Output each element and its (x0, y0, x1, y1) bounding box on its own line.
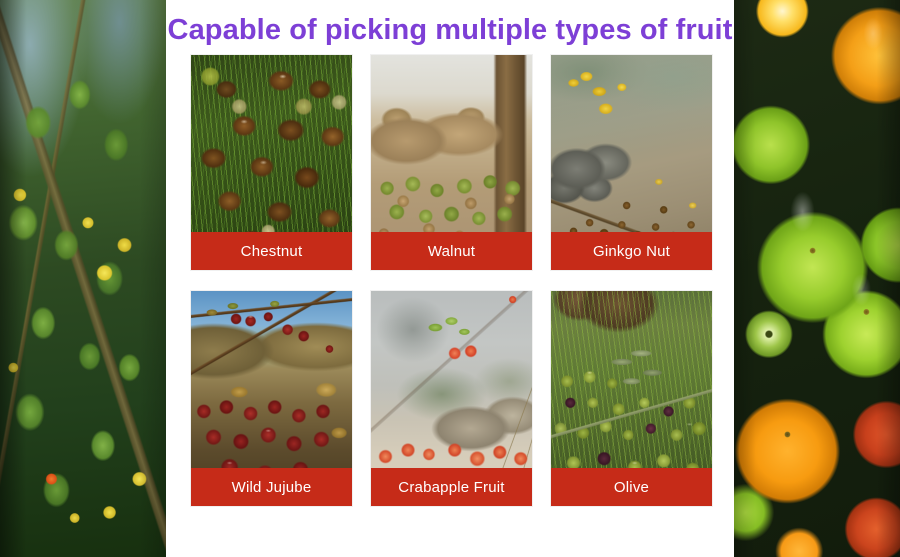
fruit-card-grid: Chestnut Walnut Ginkgo Nut (191, 55, 713, 506)
fruit-card-label: Olive (551, 468, 712, 506)
fruit-card-label: Crabapple Fruit (371, 468, 532, 506)
fruit-card-label: Walnut (371, 232, 532, 270)
jujube-tree-photo (0, 0, 166, 557)
fruit-card-ginkgo-nut[interactable]: Ginkgo Nut (551, 55, 712, 270)
fruit-card-label: Ginkgo Nut (551, 232, 712, 270)
fruit-card-walnut[interactable]: Walnut (371, 55, 532, 270)
fruit-card-crabapple-fruit[interactable]: Crabapple Fruit (371, 291, 532, 506)
fruit-card-olive[interactable]: Olive (551, 291, 712, 506)
fruit-card-label: Wild Jujube (191, 468, 352, 506)
fruit-card-label: Chestnut (191, 232, 352, 270)
page-title: Capable of picking multiple types of fru… (0, 12, 900, 48)
fruit-card-wild-jujube[interactable]: Wild Jujube (191, 291, 352, 506)
slide-canvas: Capable of picking multiple types of fru… (0, 0, 900, 557)
fruit-card-chestnut[interactable]: Chestnut (191, 55, 352, 270)
mixed-fruit-photo (732, 0, 900, 557)
